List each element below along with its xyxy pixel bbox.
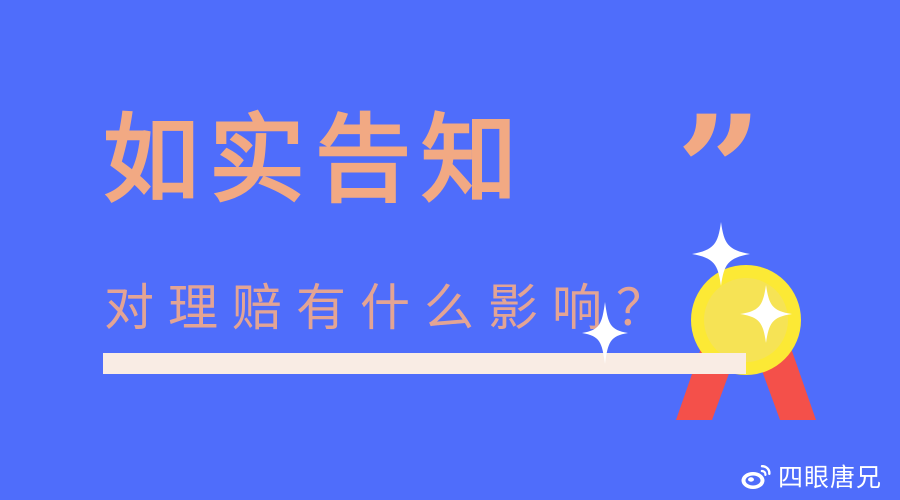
subtitle: 对理赔有什么影响？ xyxy=(104,283,680,333)
page-title: 如实告知 xyxy=(103,112,527,208)
weibo-logo-icon xyxy=(741,464,771,490)
watermark-username: 四眼唐兄 xyxy=(778,465,882,490)
poster-canvas: 如实告知 ” 对理赔有什么影响？ 四眼唐兄 xyxy=(0,0,900,500)
award-medal-icon xyxy=(676,215,816,420)
underline-bar xyxy=(103,353,746,374)
watermark: 四眼唐兄 xyxy=(741,464,882,490)
